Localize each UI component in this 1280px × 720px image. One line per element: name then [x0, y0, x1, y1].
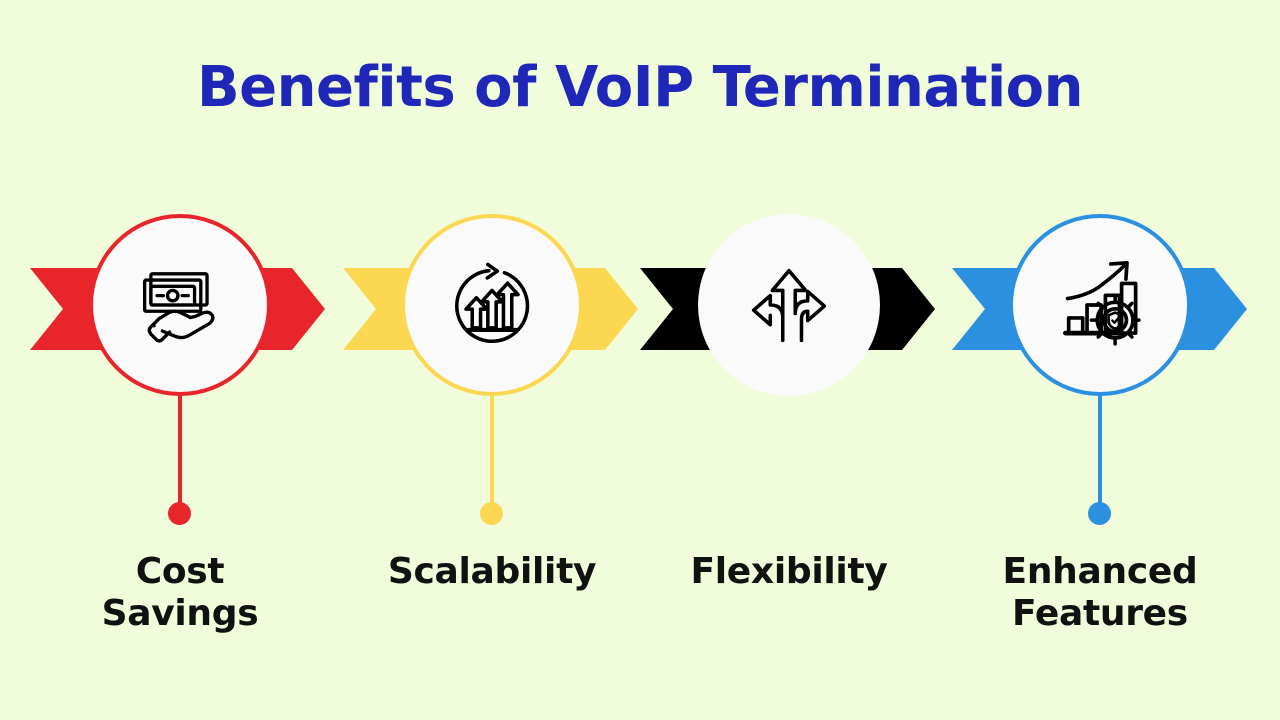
step-icon-circle-2[interactable] [401, 214, 583, 396]
infographic-canvas: Benefits of VoIP Termination [0, 0, 1280, 720]
growth-arrows-refresh-icon [440, 253, 544, 357]
step-connector-line-1 [178, 396, 182, 504]
step-label-line1: Scalability [388, 551, 596, 592]
step-label-4: Enhanced Features [950, 551, 1250, 636]
step-icon-circle-3[interactable] [698, 214, 880, 396]
step-connector-dot-1 [168, 502, 191, 525]
step-label-line1: Enhanced [1003, 551, 1198, 592]
step-label-line1: Flexibility [690, 551, 887, 592]
three-way-arrow-icon [737, 253, 841, 357]
steps-container: Cost Savings [0, 0, 1280, 720]
step-icon-circle-4[interactable] [1009, 214, 1191, 396]
step-connector-dot-3 [777, 502, 800, 525]
step-label-line1: Cost [136, 551, 225, 592]
step-label-line2: Features [1012, 593, 1188, 634]
step-label-line2: Savings [102, 593, 259, 634]
step-connector-dot-4 [1088, 502, 1111, 525]
step-connector-line-3 [787, 396, 791, 504]
step-label-1: Cost Savings [30, 551, 330, 636]
step-connector-line-4 [1098, 396, 1102, 504]
hand-holding-money-icon [128, 253, 232, 357]
step-connector-dot-2 [480, 502, 503, 525]
step-icon-circle-1[interactable] [89, 214, 271, 396]
step-connector-line-2 [490, 396, 494, 504]
step-label-3: Flexibility [639, 551, 939, 593]
step-label-2: Scalability [342, 551, 642, 593]
bar-chart-growth-gear-icon [1046, 251, 1154, 359]
